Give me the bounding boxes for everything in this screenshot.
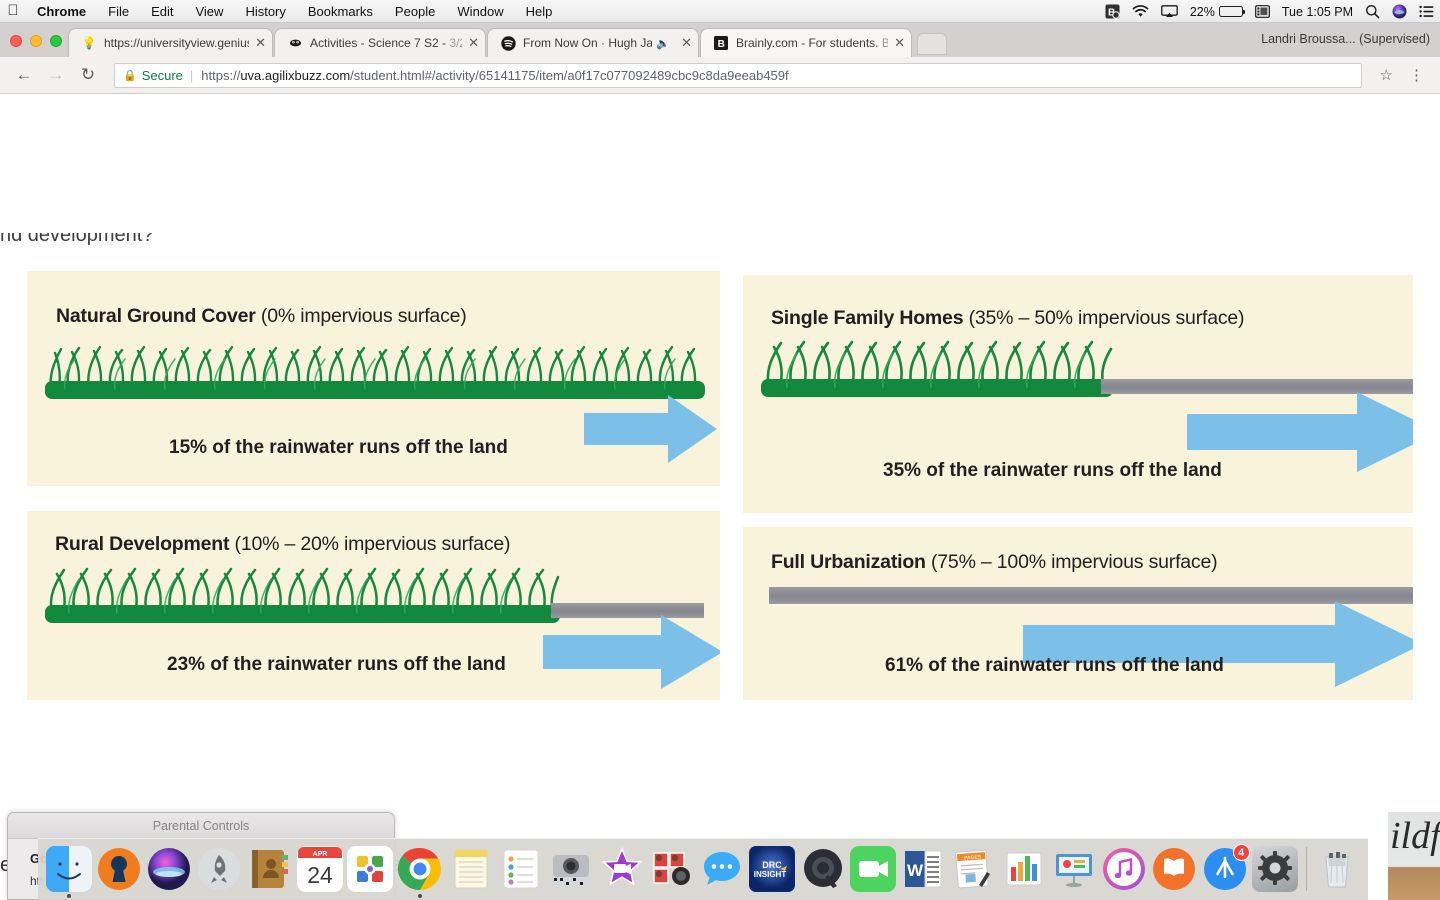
dock-item-word[interactable]: W (899, 842, 948, 898)
battery-icon[interactable]: 22% (1190, 5, 1243, 19)
security-status-label: Secure (142, 68, 183, 83)
grass-icon (45, 339, 705, 399)
back-arrow-icon[interactable]: ← (10, 61, 38, 89)
svg-text:INSIGHT: INSIGHT (754, 870, 787, 879)
running-indicator (418, 894, 422, 898)
star-icon[interactable]: ☆ (1374, 66, 1399, 84)
tab-audio-playing-icon[interactable]: 🔈 (656, 37, 670, 50)
dock-item-numbers[interactable] (999, 842, 1048, 898)
siri-icon (146, 846, 192, 892)
quicktime-icon (800, 846, 846, 892)
airplay-icon[interactable] (1161, 5, 1178, 18)
dock-item-contacts[interactable] (245, 842, 294, 898)
svg-text:B: B (718, 39, 725, 50)
page-question-heading: nd development? (0, 224, 153, 247)
dock-item-chrome[interactable] (396, 842, 445, 898)
wifi-icon[interactable] (1132, 5, 1149, 18)
tab-title: From Now On · Hugh Jackm (523, 36, 652, 50)
battery-percent-label: 22% (1190, 5, 1215, 19)
menu-window[interactable]: Window (446, 0, 514, 23)
svg-text:W: W (907, 861, 924, 880)
bitdefender-icon[interactable]: B (1105, 4, 1120, 19)
tab-title: Brainly.com - For students. By (736, 36, 888, 50)
dock-item-itunes[interactable] (1100, 842, 1149, 898)
ground-strip (761, 337, 1113, 397)
runoff-arrow-icon (543, 615, 720, 689)
app-store-badge: 4 (1233, 844, 1250, 861)
ibooks-icon (1151, 846, 1197, 892)
dock-item-notes[interactable] (446, 842, 495, 898)
window-traffic-lights (10, 35, 62, 47)
tab-activities-science[interactable]: Activities - Science 7 S2 - 3/27 ✕ (274, 28, 486, 57)
facetime-icon (850, 846, 896, 892)
wallpaper-script-text: ildf (1390, 814, 1440, 858)
menu-view[interactable]: View (184, 0, 234, 23)
close-icon[interactable]: ✕ (468, 35, 479, 51)
launchpad-icon (196, 846, 242, 892)
brainly-icon: B (713, 35, 729, 51)
macos-dock: APR24 (38, 838, 1368, 900)
dock-item-quicktime[interactable] (798, 842, 847, 898)
chrome-icon (397, 846, 443, 892)
menu-help[interactable]: Help (515, 0, 564, 23)
svg-text:PAGES: PAGES (964, 854, 982, 861)
calendar-icon: APR24 (297, 846, 343, 892)
tab-universityview[interactable]: 💡 https://universityview.geniussi ✕ (68, 28, 273, 57)
messages-icon (699, 846, 745, 892)
panel-title: Natural Ground Cover (0% impervious surf… (56, 305, 467, 328)
reload-icon[interactable]: ↻ (74, 61, 102, 89)
close-icon[interactable]: ✕ (255, 35, 266, 51)
siri-icon[interactable] (1392, 4, 1407, 19)
dock-item-calendar[interactable]: APR24 (295, 842, 344, 898)
panel-full-urbanization: Full Urbanization (75% – 100% impervious… (743, 527, 1413, 700)
keyboard-input-icon[interactable] (1255, 5, 1270, 18)
close-icon[interactable]: ✕ (681, 35, 692, 51)
browser-toolbar: ← → ↻ 🔒 Secure | https://uva.agilixbuzz.… (0, 57, 1440, 94)
svg-text:DRC: DRC (763, 860, 783, 870)
numbers-icon (1001, 846, 1047, 892)
panel-caption: 35% of the rainwater runs off the land (883, 460, 1222, 482)
panel-title: Single Family Homes (35% – 50% imperviou… (771, 307, 1244, 330)
itunes-icon (1101, 846, 1147, 892)
menu-bar-status-area: B 22% Tue 1:05 PM (1105, 0, 1434, 23)
page-content: nd development? Natural Ground Cover (0%… (0, 94, 1440, 900)
trash-icon (1314, 846, 1360, 892)
menu-people[interactable]: People (384, 0, 446, 23)
tab-title: Activities - Science 7 S2 - 3/27 (310, 36, 462, 50)
lock-icon: 🔒 (123, 69, 137, 82)
panel-single-family-homes: Single Family Homes (35% – 50% imperviou… (743, 275, 1413, 513)
grass-icon (761, 337, 1113, 397)
dock-item-keynote[interactable] (1049, 842, 1098, 898)
ground-strip (45, 339, 705, 399)
running-indicator (67, 894, 71, 898)
panel-natural-ground-cover: Natural Ground Cover (0% impervious surf… (27, 271, 720, 486)
app-store-icon: 4 (1202, 846, 1248, 892)
photo-booth-icon (548, 846, 594, 892)
tab-spotify-from-now-on[interactable]: From Now On · Hugh Jackm 🔈 ✕ (487, 28, 699, 57)
dock-item-photo-booth[interactable] (547, 842, 596, 898)
notification-center-icon[interactable] (1419, 5, 1434, 18)
panel-caption: 61% of the rainwater runs off the land (885, 655, 1224, 677)
photos-icon (347, 846, 393, 892)
dock-item-photos-colorwheel[interactable] (346, 842, 395, 898)
new-tab-button[interactable] (917, 33, 947, 55)
maximize-window-button[interactable] (50, 35, 62, 47)
address-bar[interactable]: 🔒 Secure | https://uva.agilixbuzz.com/st… (114, 63, 1362, 88)
svg-text:24: 24 (307, 862, 333, 888)
menu-history[interactable]: History (234, 0, 296, 23)
svg-text:APR: APR (313, 851, 328, 858)
imovie-icon (599, 846, 645, 892)
vpn-icon (96, 846, 142, 892)
panel-title: Full Urbanization (75% – 100% impervious… (771, 551, 1217, 574)
chrome-browser-window: 💡 https://universityview.geniussi ✕ Acti… (0, 23, 1440, 900)
dock-item-finder[interactable] (44, 842, 93, 898)
runoff-arrow-icon (584, 395, 717, 463)
menu-file[interactable]: File (97, 0, 140, 23)
word-icon: W (900, 846, 946, 892)
reminders-icon (498, 846, 544, 892)
dock-item-facetime[interactable] (848, 842, 897, 898)
url-path: /student.html#/activity/65141175/item/a0… (350, 68, 788, 83)
contacts-icon (247, 846, 293, 892)
system-preferences-icon (1252, 846, 1298, 892)
ground-strip (45, 563, 560, 623)
dock-item-trash[interactable] (1313, 842, 1362, 898)
panel-caption: 15% of the rainwater runs off the land (169, 437, 508, 459)
dock-item-reminders[interactable] (496, 842, 545, 898)
kebab-menu-icon[interactable]: ⋮ (1403, 66, 1430, 84)
close-window-button[interactable] (10, 35, 22, 47)
tab-brainly[interactable]: B Brainly.com - For students. By ✕ (700, 28, 912, 57)
menu-bookmarks[interactable]: Bookmarks (297, 0, 384, 23)
dock-item-vpn[interactable] (94, 842, 143, 898)
forward-arrow-icon[interactable]: → (42, 61, 70, 89)
pages-icon: PAGES (950, 846, 996, 892)
finder-icon (46, 846, 92, 892)
dock-item-siri[interactable] (145, 842, 194, 898)
profile-name-label[interactable]: Landri Broussa... (Supervised) (1261, 32, 1430, 46)
omnibox-divider: | (190, 68, 193, 83)
bulb-icon: 💡 (81, 35, 97, 51)
photos-app-icon (649, 846, 695, 892)
dock-item-photos[interactable] (647, 842, 696, 898)
tab-strip: 💡 https://universityview.geniussi ✕ Acti… (0, 23, 1440, 57)
dock-item-imovie[interactable] (597, 842, 646, 898)
panel-caption: 23% of the rainwater runs off the land (167, 654, 506, 676)
desktop-wallpaper: ildf (1388, 812, 1440, 900)
keynote-icon (1051, 846, 1097, 892)
dock-item-messages[interactable] (697, 842, 746, 898)
panel-title: Rural Development (10% – 20% impervious … (55, 533, 510, 556)
tab-title: https://universityview.geniussi (104, 36, 249, 50)
dock-item-pages[interactable]: PAGES (949, 842, 998, 898)
macos-menu-bar:  Chrome File Edit View History Bookmark… (0, 0, 1440, 23)
close-icon[interactable]: ✕ (894, 35, 905, 51)
menu-edit[interactable]: Edit (140, 0, 184, 23)
menu-chrome[interactable]: Chrome (26, 0, 97, 23)
dock-item-system-preferences[interactable] (1250, 842, 1299, 898)
url-host: uva.agilixbuzz.com (240, 68, 350, 83)
drc-insight-icon: DRCINSIGHT (749, 846, 795, 892)
spotify-icon (500, 35, 516, 51)
url-scheme: https:// (201, 68, 240, 83)
apple-menu-icon[interactable]:  (0, 3, 26, 20)
dock-item-ibooks[interactable] (1150, 842, 1199, 898)
parental-controls-title: Parental Controls (8, 813, 394, 839)
menu-bar-clock[interactable]: Tue 1:05 PM (1282, 5, 1353, 19)
dock-divider (1306, 847, 1307, 891)
panel-rural-development: Rural Development (10% – 20% impervious … (27, 511, 720, 700)
dock-item-app-store[interactable]: 4 (1200, 842, 1249, 898)
agilix-icon (287, 35, 303, 51)
minimize-window-button[interactable] (30, 35, 42, 47)
spotlight-search-icon[interactable] (1365, 4, 1380, 19)
notes-icon (448, 846, 494, 892)
grass-icon (45, 563, 560, 623)
dock-item-drc-insight[interactable]: DRCINSIGHT (748, 842, 797, 898)
dock-item-launchpad[interactable] (195, 842, 244, 898)
